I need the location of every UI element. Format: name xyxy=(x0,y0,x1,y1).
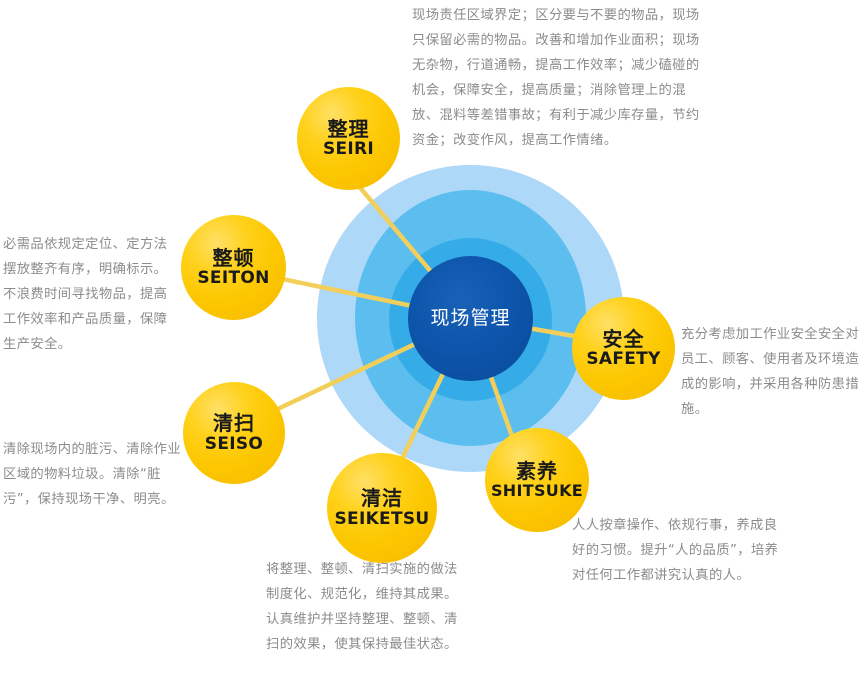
node-shitsuke[interactable]: 素养 SHITSUKE xyxy=(485,428,589,532)
node-seiton-cn: 整顿 xyxy=(213,248,255,270)
node-safety-cn: 安全 xyxy=(603,329,645,351)
node-shitsuke-cn: 素养 xyxy=(516,461,558,483)
node-shitsuke-en: SHITSUKE xyxy=(491,482,583,499)
node-seiso[interactable]: 清扫 SEISO xyxy=(183,382,285,484)
node-seiketsu-cn: 清洁 xyxy=(361,488,403,510)
node-seiri[interactable]: 整理 SEIRI xyxy=(297,87,400,190)
center-node[interactable]: 现场管理 xyxy=(408,256,533,381)
node-seiketsu-en: SEIKETSU xyxy=(334,510,429,528)
node-seiton[interactable]: 整顿 SEITON xyxy=(181,215,286,320)
node-seiso-cn: 清扫 xyxy=(213,413,255,435)
node-safety[interactable]: 安全 SAFETY xyxy=(572,297,675,400)
node-seiso-en: SEISO xyxy=(205,435,263,453)
diagram-canvas: 现场管理 整理 SEIRI 整顿 SEITON 清扫 SEISO 清洁 SEIK… xyxy=(0,0,863,675)
node-seiton-en: SEITON xyxy=(197,269,269,287)
node-seiketsu[interactable]: 清洁 SEIKETSU xyxy=(327,453,437,563)
center-node-label: 现场管理 xyxy=(430,309,510,328)
node-safety-en: SAFETY xyxy=(586,350,660,368)
node-seiri-cn: 整理 xyxy=(328,119,370,141)
node-seiri-en: SEIRI xyxy=(323,140,374,158)
